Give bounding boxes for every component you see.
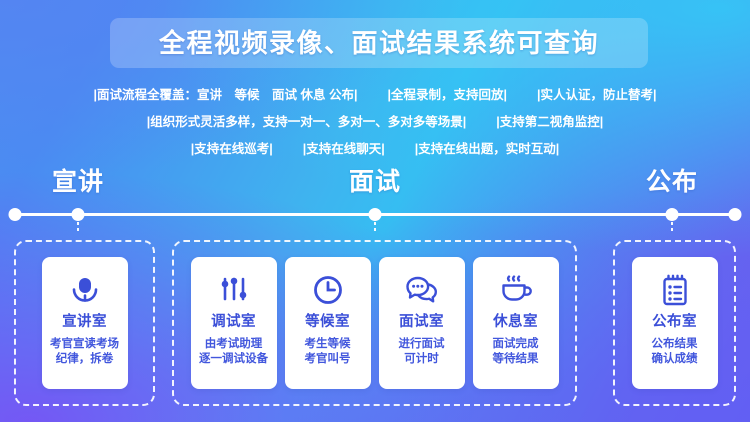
card-title: 等候室 [305,315,350,330]
card-description: 进行面试 可计时 [399,337,445,368]
card-description: 考官宣读考场 纪律，拆卷 [50,337,119,368]
poster-canvas: 全程视频录像、面试结果系统可查询 |面试流程全覆盖：宣讲 等候 面试 休息 公布… [0,0,750,422]
timeline-connector-xuanjiang [77,222,79,233]
card-title: 调试室 [211,315,256,330]
card-description: 公布结果 确认成绩 [652,337,698,368]
clock-icon [311,270,345,310]
feature-item: |实人认证，防止替考| [536,84,658,103]
stage-groups: 宣讲室 考官宣读考场 纪律，拆卷 调试室 [0,240,750,412]
feature-item: |全程录制，支持回放| [386,84,508,103]
timeline-dot-start [9,208,22,221]
feature-item: |组织形式灵活多样，支持一对一、多对一、多对多等场景| [146,111,468,130]
coffee-icon [498,270,534,310]
card-xuanjiangshi[interactable]: 宣讲室 考官宣读考场 纪律，拆卷 [42,257,128,389]
card-description: 考生等候 考官叫号 [305,337,351,368]
card-xiuxishi[interactable]: 休息室 面试完成 等待结果 [473,257,559,389]
card-gongbushi[interactable]: 公布室 公布结果 确认成绩 [632,257,718,389]
timeline-label-mianshi: 面试 [349,170,401,195]
feature-item: |面试流程全覆盖：宣讲 等候 面试 休息 公布| [93,84,359,103]
microphone-icon [68,270,102,310]
sliders-icon [217,270,251,310]
timeline-connector-mianshi [374,222,376,233]
timeline-label-gongbu: 公布 [646,170,698,195]
clipboard-icon [659,270,691,310]
feature-item: |支持第二视角监控| [495,111,604,130]
timeline-connector-gongbu [671,222,673,233]
feature-row-1: |面试流程全覆盖：宣讲 等候 面试 休息 公布| |全程录制，支持回放| |实人… [0,80,750,107]
feature-row-2: |组织形式灵活多样，支持一对一、多对一、多对多等场景| |支持第二视角监控| [0,107,750,134]
feature-item: |支持在线巡考| [190,138,274,157]
card-denghoushi[interactable]: 等候室 考生等候 考官叫号 [285,257,371,389]
timeline-dot-mianshi [369,208,382,221]
feature-item: |支持在线聊天| [302,138,386,157]
card-title: 宣讲室 [62,315,107,330]
timeline-dot-xuanjiang [72,208,85,221]
process-timeline: 宣讲 面试 公布 [0,168,750,228]
card-title: 休息室 [493,315,538,330]
card-tiaoshishi[interactable]: 调试室 由考试助理 逐一调试设备 [191,257,277,389]
card-title: 面试室 [399,315,444,330]
title-banner: 全程视频录像、面试结果系统可查询 [110,18,648,68]
feature-list: |面试流程全覆盖：宣讲 等候 面试 休息 公布| |全程录制，支持回放| |实人… [0,80,750,161]
timeline-label-xuanjiang: 宣讲 [52,170,104,195]
group-announce: 宣讲室 考官宣读考场 纪律，拆卷 [14,240,155,406]
card-mianshishi[interactable]: 面试室 进行面试 可计时 [379,257,465,389]
card-description: 由考试助理 逐一调试设备 [199,337,268,368]
feature-row-3: |支持在线巡考| |支持在线聊天| |支持在线出题，实时互动| [0,134,750,161]
card-title: 公布室 [652,315,697,330]
timeline-dot-end [729,208,742,221]
card-description: 面试完成 等待结果 [493,337,539,368]
group-interview: 调试室 由考试助理 逐一调试设备 等候室 考生等候 考官叫号 [172,240,577,406]
chat-icon [404,270,440,310]
page-title: 全程视频录像、面试结果系统可查询 [159,30,599,56]
timeline-dot-gongbu [666,208,679,221]
group-publish: 公布室 公布结果 确认成绩 [613,240,736,406]
feature-item: |支持在线出题，实时互动| [414,138,561,157]
